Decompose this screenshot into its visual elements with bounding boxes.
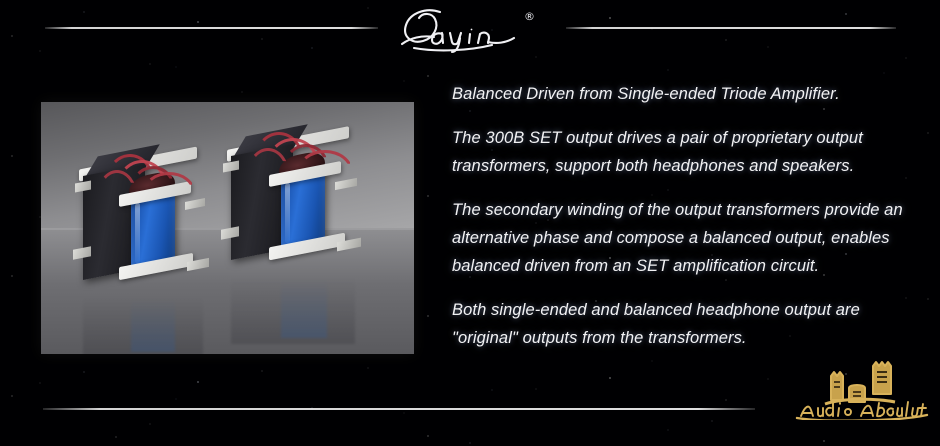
transformer-left <box>83 164 223 294</box>
divider-rule-right <box>566 27 896 29</box>
copy-paragraph-2: The secondary winding of the output tran… <box>452 196 920 280</box>
audio-absolute-logo <box>795 358 930 420</box>
copy-paragraph-1: The 300B SET output drives a pair of pro… <box>452 124 920 180</box>
copy-paragraph-3: Both single-ended and balanced headphone… <box>452 296 920 352</box>
registered-trademark-symbol: ® <box>524 11 535 22</box>
audio-absolute-logo-icon <box>795 358 930 420</box>
output-transformers-photo <box>41 102 414 354</box>
divider-rule-bottom <box>43 408 755 410</box>
slide-copy-block: Balanced Driven from Single-ended Triode… <box>452 80 920 352</box>
transformer-left-bobbin-reflection <box>131 294 175 352</box>
copy-heading: Balanced Driven from Single-ended Triode… <box>452 80 920 108</box>
transformer-right <box>231 144 381 274</box>
presentation-slide: ® <box>0 0 940 446</box>
cayin-brand-logo: ® <box>396 4 546 58</box>
divider-rule-left <box>45 27 378 29</box>
transformer-right-bobbin-reflection <box>281 274 327 338</box>
